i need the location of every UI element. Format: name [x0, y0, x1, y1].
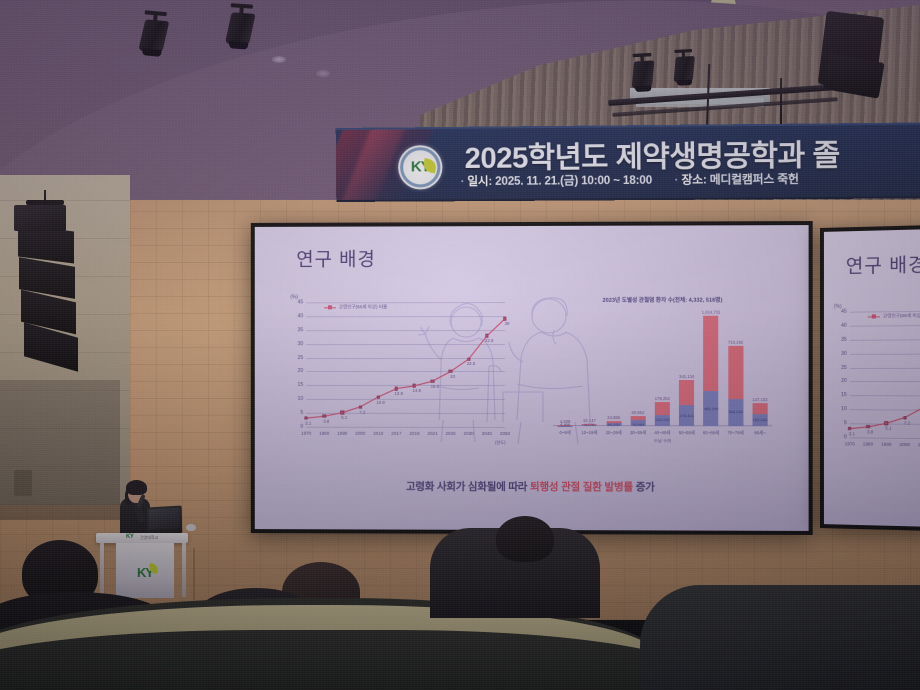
bullet-icon: ·: [461, 176, 465, 188]
banner-place-value: 메디컬캠퍼스 죽헌: [710, 174, 799, 187]
bar-x-axis-label: 50~59세: [679, 430, 695, 436]
data-point-label: 10.8: [376, 399, 384, 404]
bar-value-label-female: 178,252: [655, 396, 670, 401]
podium-strip-logo: KY: [126, 534, 133, 540]
bar-value-label-female: 710,192: [728, 339, 743, 344]
podium-top-surface: KY 건양대학교: [96, 533, 188, 543]
x-axis-tick-label: 2019: [409, 431, 419, 436]
data-point-label: 3.1: [305, 421, 311, 426]
data-point-label: 14.8: [413, 388, 422, 393]
bar-x-axis-label: 30~39세: [630, 430, 646, 436]
slide-content: 연구 배경: [255, 225, 809, 531]
x-axis-tick-label: 2030: [464, 431, 474, 436]
bar-value-label-female: 341,134: [679, 374, 694, 379]
y-axis-tick-label: 30: [297, 341, 303, 347]
y-axis-tick-label: 0: [300, 424, 303, 430]
slide-caption: 고령화 사회가 심화될에 따라 퇴행성 관절 질환 발병률 증가: [255, 478, 809, 494]
x-axis-tick-label: 2017: [391, 431, 401, 436]
line-array-top-frame: [14, 205, 66, 231]
banner-date-group: ·일시: 2025. 11. 21.(금) 10:00 ~ 18:00: [461, 172, 652, 190]
bar-column: 341,134278,40150~59세: [679, 380, 694, 426]
data-point: [467, 357, 470, 360]
data-point: [305, 416, 308, 419]
bar-column: 710,192368,29070~79세: [728, 345, 743, 426]
laptop-screen: [148, 508, 180, 530]
bar-column: 147,102155,08480세~: [752, 404, 767, 427]
data-point: [903, 416, 906, 419]
data-point: [485, 334, 488, 337]
data-point-label: 20: [450, 374, 455, 379]
y-axis-tick-label: 30: [841, 351, 847, 357]
wall-dark-panel: [0, 380, 120, 520]
colon-separator: :: [703, 174, 707, 186]
projection-screen-main-surface: 연구 배경: [255, 225, 809, 531]
banner-place-group: ·장소: 메디컬캠퍼스 죽헌: [675, 171, 799, 188]
seat-right-foreground: [640, 585, 920, 690]
data-point-label: 7.2: [904, 420, 910, 425]
y-axis-tick-label: 45: [841, 309, 847, 315]
data-point: [866, 425, 869, 428]
data-point-label: 16.5: [431, 384, 440, 389]
x-axis-tick-label: 1970: [845, 441, 855, 446]
y-axis-tick-label: 40: [841, 323, 847, 329]
banner-place-label: 장소: [681, 174, 702, 186]
bar-segment-female: [752, 404, 767, 415]
mouse-icon: [186, 524, 196, 531]
presenter-hair: [126, 480, 147, 495]
data-point: [413, 384, 416, 387]
data-point: [885, 422, 888, 425]
x-axis-tick-label: 1990: [881, 442, 891, 447]
hanging-cable: [780, 78, 782, 124]
podium-leg-left: [100, 543, 104, 597]
chart-aging-population-line-right: (%) 고령인구(65세 이상) 비율 051015202530354045 3…: [850, 309, 920, 439]
caption-highlight: 퇴행성 관절 질환 발병률: [530, 481, 633, 493]
data-point-label: 5.1: [341, 415, 347, 420]
bar-value-label-female: 1,014,731: [702, 309, 721, 314]
bullet-icon: ·: [675, 174, 679, 186]
banner-date-label: 일시: [467, 176, 488, 188]
slide-title: 연구 배경: [296, 244, 375, 271]
podium-cable: [193, 548, 195, 600]
banner-university-logo: KY: [398, 145, 443, 189]
audience-head: [496, 516, 554, 562]
data-point-label: 3.8: [323, 419, 329, 424]
data-point-label: 3.1: [849, 431, 855, 436]
bar-value-label-male: 40,102: [608, 422, 620, 427]
projection-screen-right-surface: 연구 배경 (%) 고령인구(65세 이상) 비율 05101520253035…: [824, 229, 920, 527]
bar-x-axis-label: 80세~: [754, 430, 765, 436]
x-axis-tick-label: 2021: [427, 431, 437, 436]
y-axis-tick-label: 35: [841, 337, 847, 343]
wall-vent-icon: [14, 470, 32, 496]
bar-value-label-female: 60,652: [632, 410, 645, 415]
y-axis-tick-label: 10: [841, 406, 847, 412]
data-point-label: 32.8: [485, 338, 494, 343]
projection-screen-right: 연구 배경 (%) 고령인구(65세 이상) 비율 05101520253035…: [820, 225, 920, 531]
bar-column: 60,65278,08930~39세: [630, 416, 645, 426]
data-point: [322, 415, 325, 418]
y-axis-tick-label: 45: [297, 299, 303, 305]
y-axis-tick-label: 20: [297, 368, 303, 374]
bar-value-label-male: 78,089: [632, 422, 644, 427]
y-axis-tick-label: 40: [297, 313, 303, 319]
podium-panel: KY: [116, 543, 174, 598]
podium-leg-right: [182, 543, 186, 597]
y-axis-tick-label: 20: [841, 378, 847, 384]
x-axis-tick-label: 1970: [301, 431, 311, 436]
data-point-label: 5.1: [885, 426, 891, 431]
y-axis-tick-label: 5: [300, 410, 303, 416]
bar-value-label-male: 465,349: [704, 406, 719, 411]
y-axis-tick-label: 25: [297, 355, 303, 361]
bar-column: 1,014,731465,34960~69세: [704, 315, 719, 426]
caption-prefix: 고령화 사회가 심화될에 따라: [406, 481, 530, 493]
bar-x-axis-label: 10~19세: [581, 430, 597, 436]
chart-aging-population-line: (%) 고령인구(65세 이상) 비율 051015202530354045 3…: [306, 302, 505, 427]
data-point: [449, 370, 452, 373]
data-point: [359, 405, 362, 408]
x-axis-tick-label: 1980: [319, 431, 329, 436]
data-point: [395, 387, 398, 390]
bar-value-label-male: 9,770: [584, 422, 594, 427]
y-axis-tick-label: 25: [841, 364, 847, 370]
bar-segment-female: [704, 315, 719, 391]
banner-subtitle: ·일시: 2025. 11. 21.(금) 10:00 ~ 18:00 ·장소:…: [461, 171, 799, 190]
x-axis-tick-label: 2025: [446, 431, 456, 436]
data-point: [503, 317, 506, 320]
x-axis-tick-label: 2010: [373, 431, 383, 436]
bar-value-label-male: 150,039: [655, 418, 670, 423]
bar-segment-female: [679, 380, 694, 406]
podium-strip-subtext: 건양대학교: [140, 535, 158, 541]
x-axis-tick-label: 2000: [355, 431, 365, 436]
bar-x-axis-label: 70~79세: [727, 430, 743, 436]
presenter-laptop: [146, 505, 182, 534]
slide-title-right: 연구 배경: [846, 250, 920, 279]
banner-date-value: 2025. 11. 21.(금) 10:00 ~ 18:00: [495, 175, 652, 188]
bar-column: 15,1479,77010~19세: [582, 424, 597, 426]
y-axis-tick-label: 15: [297, 382, 303, 388]
y-axis-tick-label: 15: [841, 392, 847, 398]
bar-chart-title: 2023년 도별성 관절염 환자 수(전체: 4,332, 516명): [553, 296, 772, 304]
bar-value-label-female: 24,996: [607, 415, 620, 420]
chart-arthritis-bar: 2023년 도별성 관절염 환자 수(전체: 4,332, 516명) 4,60…: [553, 314, 772, 427]
bar-column: 178,252150,03940~49세: [655, 402, 670, 427]
bar-column: 4,6094,4000~9세: [558, 425, 573, 426]
bar-value-label-female: 147,102: [752, 398, 767, 403]
bar-x-axis-label: 20~29세: [606, 430, 622, 436]
bar-segment-female: [728, 345, 743, 398]
x-axis-tick-label: 1980: [863, 441, 873, 446]
bar-x-axis-label: 0~9세: [559, 430, 570, 436]
bar-value-label-male: 368,290: [728, 409, 743, 414]
data-point-label: 24.5: [467, 361, 476, 366]
bar-column: 24,99640,10220~29세: [606, 421, 621, 426]
bar-chart-legend-note: ※남 ※여: [654, 438, 671, 444]
auditorium-photo: KY 2025학년도 제약생명공학과 졸 ·일시: 2025. 11. 21.(…: [0, 0, 920, 690]
data-point-label: 3.8: [867, 429, 873, 434]
x-axis-tick-label: 1990: [337, 431, 347, 436]
y-axis-tick-label: 0: [844, 434, 847, 440]
y-axis-tick-label: 5: [844, 420, 847, 426]
bar-value-label-male: 278,401: [679, 413, 694, 418]
bar-value-label-male: 155,084: [753, 417, 768, 422]
recessed-light-icon: [316, 70, 330, 77]
bar-segment-female: [655, 402, 670, 415]
colon-separator: :: [488, 176, 492, 188]
caption-suffix: 증가: [633, 481, 655, 493]
line-chart-x-axis-label: (연도): [495, 440, 505, 446]
event-banner: KY 2025학년도 제약생명공학과 졸 ·일시: 2025. 11. 21.(…: [336, 122, 920, 202]
data-point: [848, 427, 851, 430]
data-point-label: 13.8: [394, 391, 402, 396]
y-axis-tick-label: 35: [297, 327, 303, 333]
x-axis-tick-label: 2000: [900, 442, 910, 447]
x-axis-tick-label: 2050: [500, 431, 510, 436]
speaker-hang-cable: [44, 190, 46, 204]
data-point: [341, 411, 344, 414]
data-point-label: 7.2: [359, 409, 365, 414]
x-axis-tick-label: 2040: [482, 431, 492, 436]
recessed-light-icon: [272, 56, 286, 63]
bar-x-axis-label: 60~69세: [703, 430, 719, 436]
data-point: [377, 395, 380, 398]
bar-x-axis-label: 40~49세: [654, 430, 670, 436]
slide-content-right: 연구 배경 (%) 고령인구(65세 이상) 비율 05101520253035…: [824, 229, 920, 527]
data-point-label: 39: [505, 321, 510, 326]
data-point: [431, 379, 434, 382]
projection-screen-main: 연구 배경: [251, 221, 813, 535]
bar-value-label-male: 4,400: [560, 422, 570, 427]
y-axis-tick-label: 10: [297, 396, 303, 402]
